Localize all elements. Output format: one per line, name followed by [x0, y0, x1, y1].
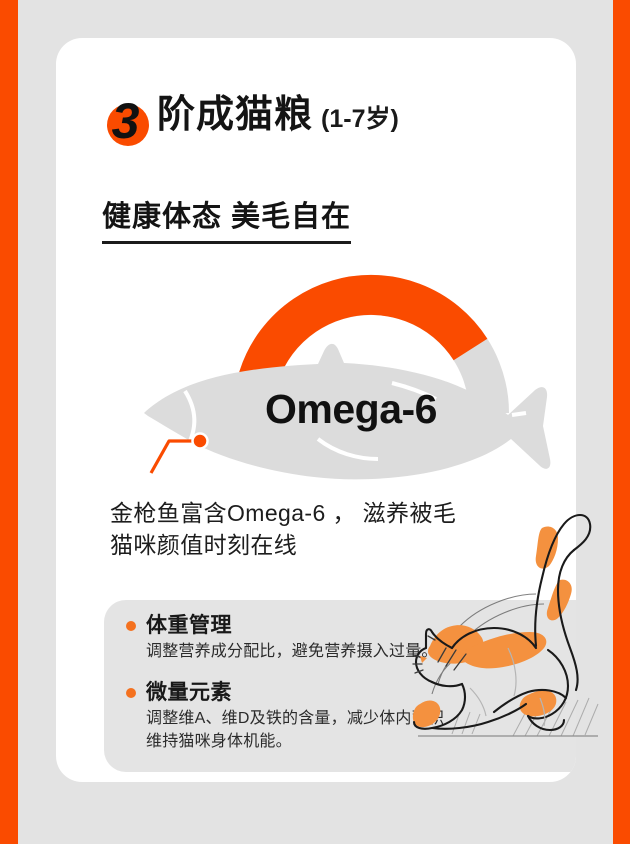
step-number-text: 3 [112, 96, 139, 146]
content-card: 3 阶成猫粮 (1-7岁) 健康体态 美毛自在 [56, 38, 576, 782]
age-range-text: (1-7岁) [321, 99, 399, 135]
feature-heading: 微量元素 [126, 681, 444, 704]
bullet-dot-icon [126, 621, 136, 631]
feature-description-line: 维持猫咪身体机能。 [146, 730, 444, 753]
lead-paragraph: 金枪鱼富含Omega-6 ， 滋养被毛 猫咪颜值时刻在线 [110, 498, 456, 561]
page-title: 3 阶成猫粮 (1-7岁) [101, 96, 399, 150]
title-text: 阶成猫粮 [157, 96, 313, 134]
page-subtitle: 健康体态 美毛自在 [102, 193, 351, 244]
feature-description: 调整维A、维D及铁的含量，减少体内蓄积 维持猫咪身体机能。 [146, 707, 444, 753]
feature-description-line: 调整维A、维D及铁的含量，减少体内蓄积 [146, 707, 444, 730]
omega-hero-graphic [56, 263, 576, 488]
feature-item-weight-management: 体重管理 调整营养成分配比，避免营养摄入过量。 [126, 614, 438, 663]
feature-title: 微量元素 [146, 681, 232, 704]
bullet-dot-icon [126, 688, 136, 698]
lead-line-2: 猫咪颜值时刻在线 [110, 530, 456, 562]
feature-item-trace-elements: 微量元素 调整维A、维D及铁的含量，减少体内蓄积 维持猫咪身体机能。 [126, 681, 444, 753]
left-orange-rail [0, 0, 18, 844]
feature-panel: 体重管理 调整营养成分配比，避免营养摄入过量。 微量元素 调整维A、维D及铁的含… [104, 600, 576, 772]
product-detail-screen: 3 阶成猫粮 (1-7岁) 健康体态 美毛自在 [0, 0, 630, 844]
lead-line-1: 金枪鱼富含Omega-6 ， 滋养被毛 [110, 498, 456, 530]
feature-description: 调整营养成分配比，避免营养摄入过量。 [146, 640, 438, 663]
feature-title: 体重管理 [146, 614, 232, 637]
step-number-badge: 3 [101, 96, 155, 150]
feature-description-line: 调整营养成分配比，避免营养摄入过量。 [146, 640, 438, 663]
right-orange-rail [613, 0, 630, 844]
omega-callout-pointer [151, 434, 208, 474]
feature-heading: 体重管理 [126, 614, 438, 637]
